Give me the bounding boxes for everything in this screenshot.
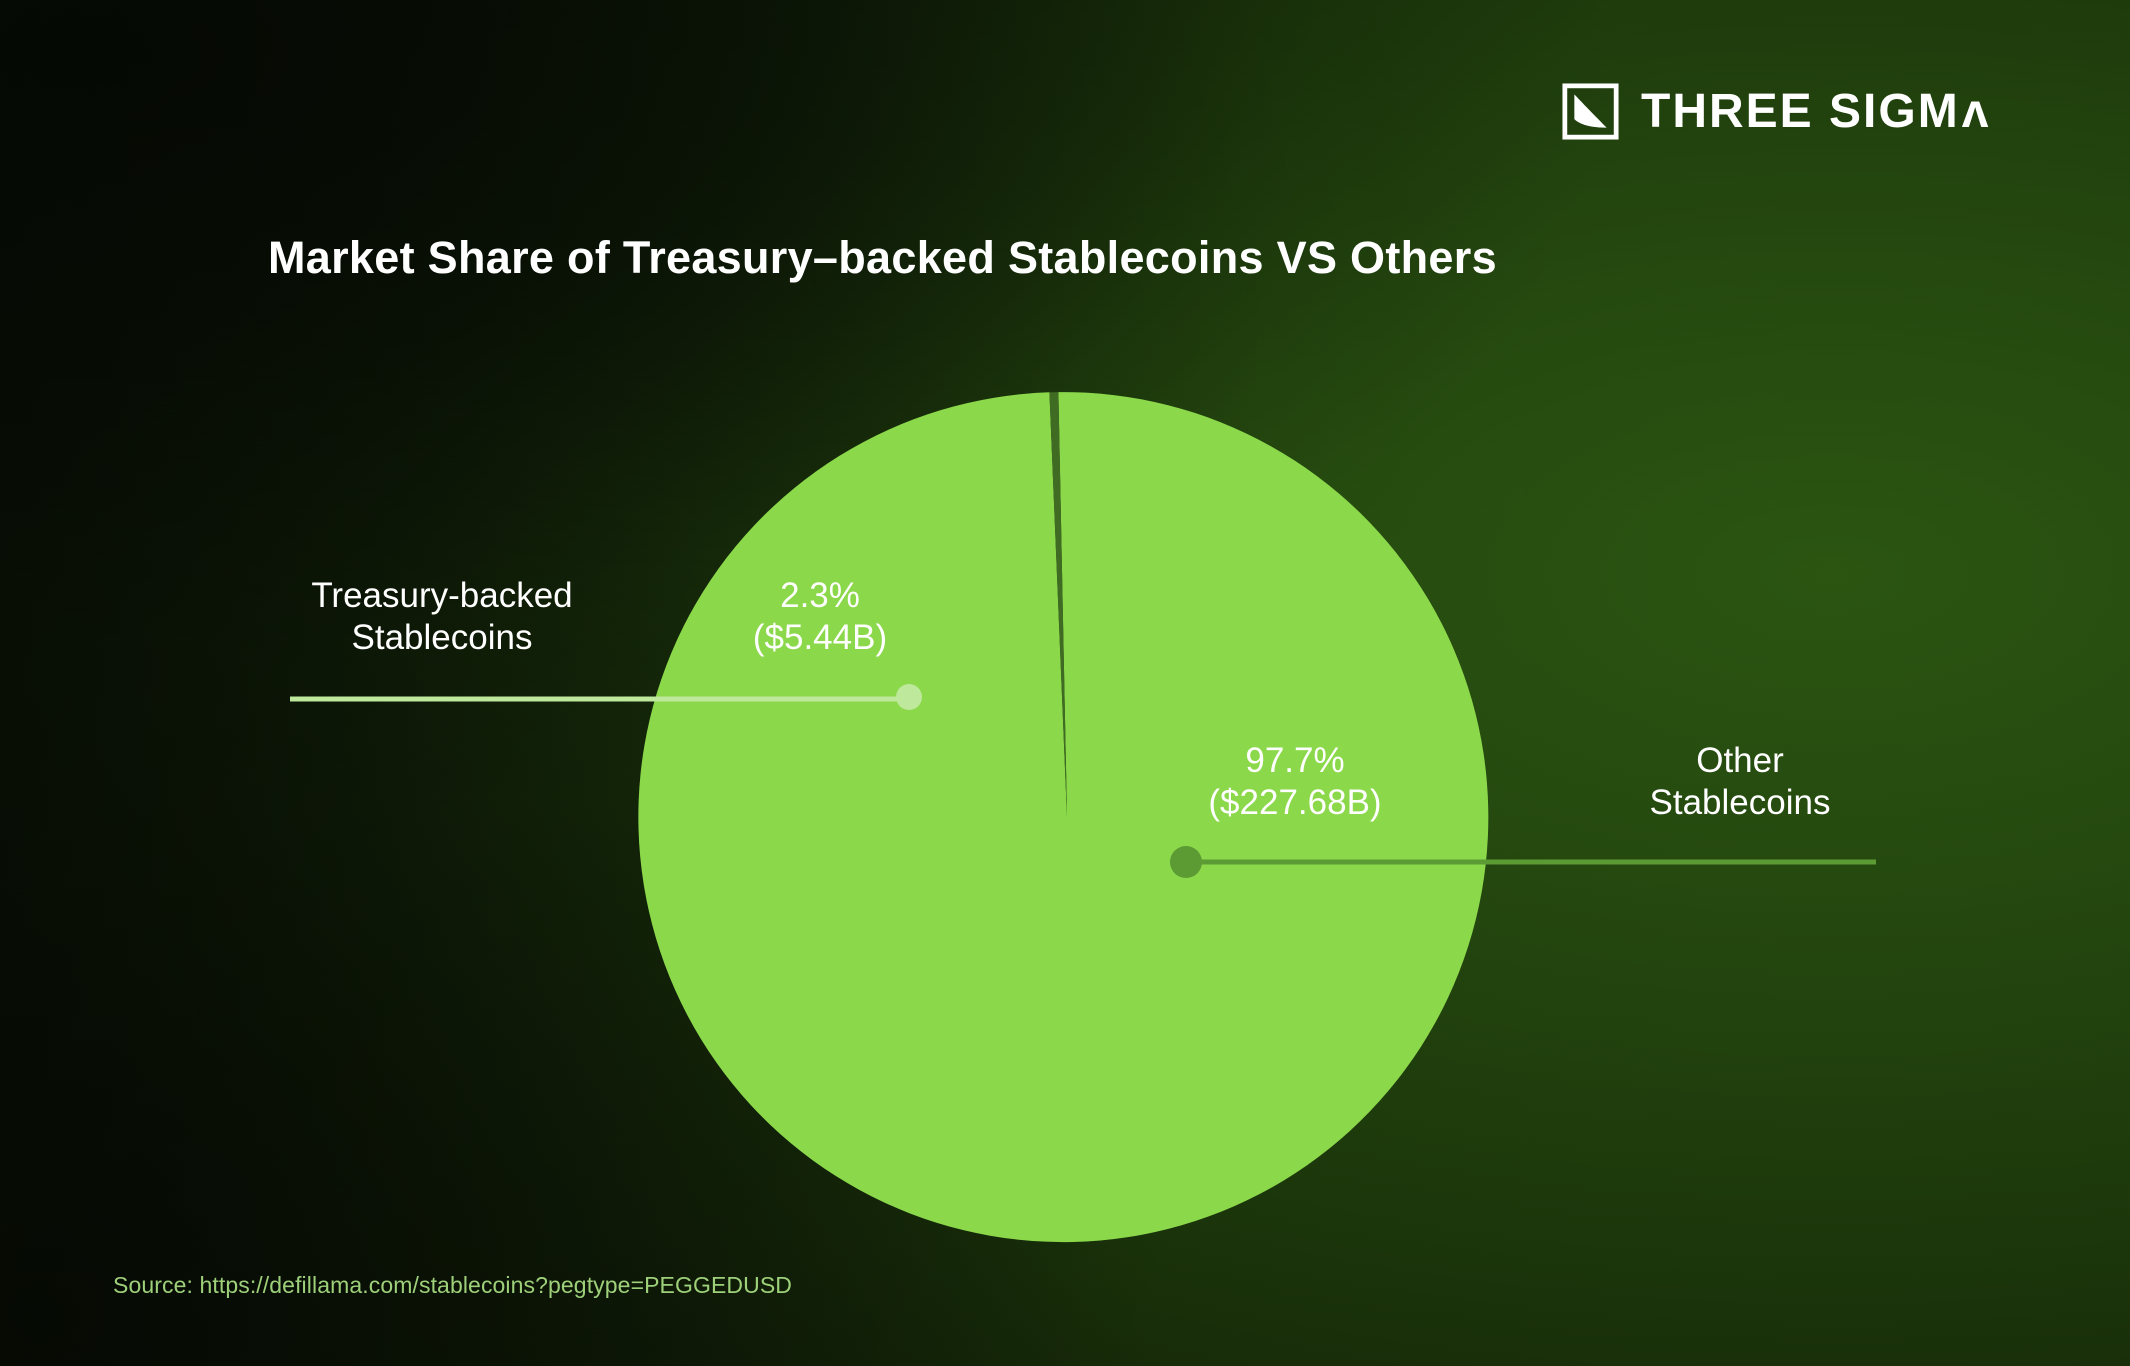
label-treasury-backed-category: Treasury-backed Stablecoins	[272, 575, 612, 659]
value-treasury-backed-amount: ($5.44B)	[700, 617, 940, 659]
label-other-stablecoins-line2: Stablecoins	[1590, 782, 1890, 824]
leader-dot-other-stablecoins	[1170, 846, 1202, 878]
source-attribution: Source: https://defillama.com/stablecoin…	[113, 1272, 792, 1299]
label-treasury-backed-line1: Treasury-backed	[272, 575, 612, 617]
label-treasury-backed-line2: Stablecoins	[272, 617, 612, 659]
value-other-stablecoins-amount: ($227.68B)	[1160, 782, 1430, 824]
value-other-stablecoins-percent: 97.7%	[1160, 740, 1430, 782]
infographic-canvas: THREE SIGMʌ Market Share of Treasury–bac…	[0, 0, 2130, 1366]
label-other-stablecoins-line1: Other	[1590, 740, 1890, 782]
value-treasury-backed-percent: 2.3%	[700, 575, 940, 617]
label-other-stablecoins-value: 97.7% ($227.68B)	[1160, 740, 1430, 824]
label-treasury-backed-value: 2.3% ($5.44B)	[700, 575, 940, 659]
leader-dot-treasury-backed	[896, 684, 922, 710]
label-other-stablecoins-category: Other Stablecoins	[1590, 740, 1890, 824]
pie-chart	[0, 0, 2130, 1366]
